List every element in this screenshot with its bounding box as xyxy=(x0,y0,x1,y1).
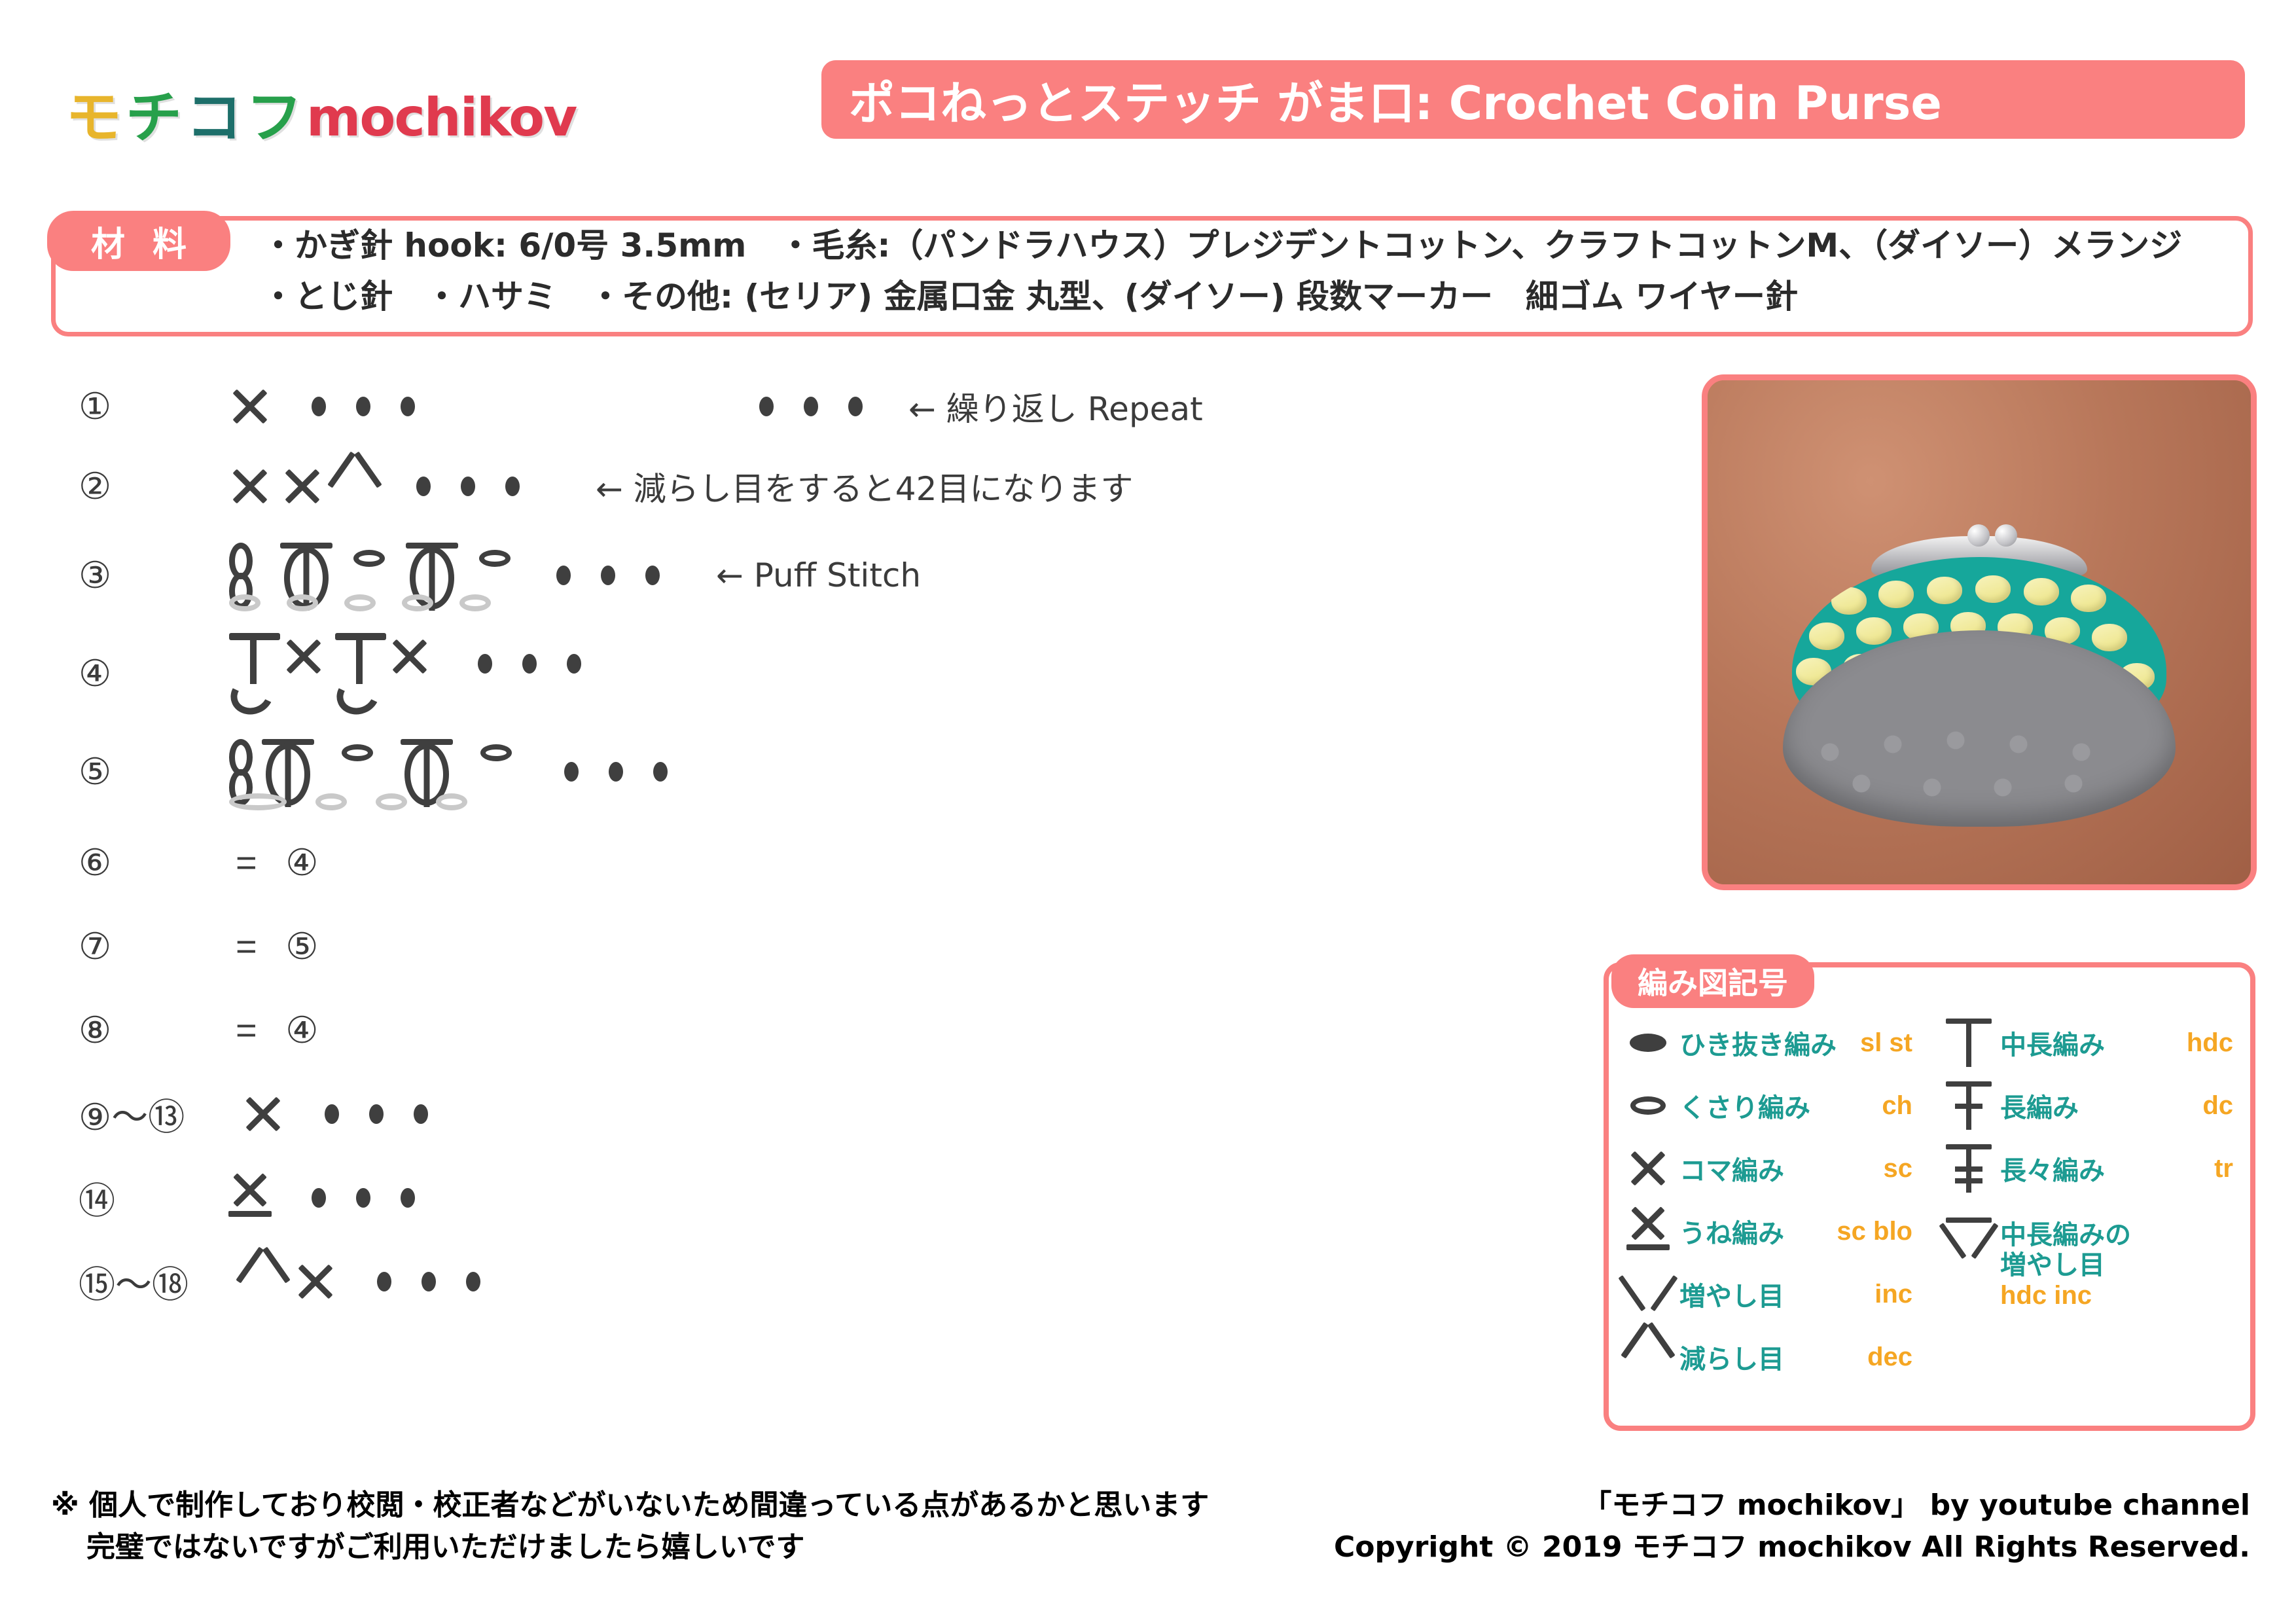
row-note: ← Puff Stitch xyxy=(716,556,921,594)
row-number: ③ xyxy=(79,554,229,597)
row-number: ⑥ xyxy=(79,842,229,884)
legend-item: くさり編み ch xyxy=(1617,1084,1924,1127)
clasp-knob-right xyxy=(1995,524,2017,547)
legend-item: 増やし目 inc xyxy=(1617,1272,1924,1316)
pattern-row: ⑮～⑱ xyxy=(79,1240,1505,1324)
row-symbols xyxy=(229,367,445,446)
row-number: ⑮～⑱ xyxy=(79,1255,242,1308)
legend-label-en: dc xyxy=(2202,1091,2245,1121)
pattern-row: ⑭ xyxy=(79,1156,1505,1240)
row-symbols xyxy=(229,723,698,821)
repeat-dot-icon xyxy=(556,566,571,585)
legend-item: うね編み sc blo xyxy=(1617,1210,1924,1253)
repeat-dot-icon xyxy=(377,1272,391,1291)
repeat-dot-icon xyxy=(416,477,431,496)
credit-line-2: Copyright © 2019 モチコフ mochikov All Right… xyxy=(1334,1526,2250,1568)
materials-tab-label: 材 料 xyxy=(83,217,194,266)
repeat-dot-icon xyxy=(601,566,615,585)
row-symbols xyxy=(229,1158,445,1238)
legend-item: 減らし目 dec xyxy=(1617,1335,1924,1379)
legend-label-jp-line1: 中長編みの xyxy=(2000,1220,2131,1250)
row-symbols xyxy=(242,1074,458,1154)
materials-line-1: ・かぎ針 hook: 6/0号 3.5mm ・毛糸:（パンドラハウス）プレジデン… xyxy=(262,220,2225,271)
repeat-dot-icon xyxy=(369,1104,384,1124)
repeat-dot-icon xyxy=(759,397,774,416)
legend-label-jp: うね編み xyxy=(1679,1212,1784,1250)
single-crochet-icon xyxy=(242,1093,284,1135)
pattern-row: ③ xyxy=(79,526,1505,624)
single-crochet-icon xyxy=(295,1261,336,1303)
legend-label-jp: 長々編み xyxy=(2000,1149,2105,1187)
repeat-dot-icon xyxy=(478,654,492,674)
pattern-sheet: モ チ コ フ mochikov ポコねっとステッチ がま口: Crochet … xyxy=(0,0,2296,1624)
logo-char-mo: モ xyxy=(65,90,122,146)
page-title: ポコねっとステッチ がま口: Crochet Coin Purse xyxy=(821,67,1942,133)
row-note: ← 繰り返し Repeat xyxy=(908,383,1203,430)
clasp-knob-left xyxy=(1967,524,1990,547)
row-symbols xyxy=(229,446,550,526)
footer-disclaimer: ※ 個人で制作しており校閲・校正者などがいないため間違っている点があるかと思いま… xyxy=(51,1485,1360,1568)
disclaimer-line-1: ※ 個人で制作しており校閲・校正者などがいないため間違っている点があるかと思いま… xyxy=(51,1485,1360,1526)
legend-label-jp: ひき抜き編み xyxy=(1679,1024,1837,1062)
repeat-dot-icon xyxy=(325,1104,339,1124)
repeat-dot-icon xyxy=(356,1188,370,1208)
row-equals: = ④ xyxy=(229,841,327,884)
legend-item: コマ編み sc xyxy=(1617,1147,1924,1190)
repeat-dot-icon xyxy=(466,1272,480,1291)
legend-item: 中長編みの 増やし目 hdc inc xyxy=(1937,1220,2245,1310)
slip-stitch-icon xyxy=(1617,1034,1679,1052)
repeat-dot-icon xyxy=(645,566,660,585)
chain-icon xyxy=(1617,1096,1679,1115)
legend-tab: 編み図記号 xyxy=(1611,954,1814,1008)
row-equals: = ④ xyxy=(229,1009,327,1052)
legend-label-en: hdc xyxy=(2187,1028,2245,1058)
logo-latin: mochikov xyxy=(306,92,576,144)
repeat-dot-icon xyxy=(401,1188,415,1208)
repeat-dot-icon xyxy=(564,762,579,782)
materials-content: ・かぎ針 hook: 6/0号 3.5mm ・毛糸:（パンドラハウス）プレジデン… xyxy=(262,220,2225,322)
hdc-hook-icon xyxy=(229,630,283,717)
single-crochet-icon xyxy=(229,465,271,507)
pattern-row: ⑧ = ④ xyxy=(79,988,1505,1072)
decrease-icon xyxy=(242,1261,284,1303)
legend-label-en: hdc inc xyxy=(2000,1280,2131,1310)
row-number: ⑤ xyxy=(79,751,229,793)
sc-blo-icon xyxy=(1617,1204,1679,1259)
legend-label-en: dec xyxy=(1867,1343,1924,1372)
pattern-row: ⑥ = ④ xyxy=(79,821,1505,905)
dc-icon xyxy=(1937,1081,2000,1130)
row-number: ② xyxy=(79,465,229,508)
row-number: ⑨～⑬ xyxy=(79,1088,242,1141)
credit-line-1: 「モチコフ mochikov」 by youtube channel xyxy=(1334,1485,2250,1526)
legend-label-en: sl st xyxy=(1860,1028,1924,1058)
logo-char-ko: コ xyxy=(186,90,242,146)
legend-label-jp: くさり編み xyxy=(1679,1087,1810,1125)
repeat-dot-icon xyxy=(522,654,537,674)
foundation-chain-row xyxy=(229,594,491,611)
pattern-row: ⑨～⑬ xyxy=(79,1072,1505,1156)
row-note: ← 減らし目をすると42目になります xyxy=(596,463,1133,510)
chain-icon xyxy=(342,744,373,761)
row-number: ④ xyxy=(79,653,229,695)
legend-label-jp: 増やし目 xyxy=(1679,1275,1784,1313)
legend-tab-label: 編み図記号 xyxy=(1638,960,1788,1003)
chain-icon xyxy=(480,744,512,761)
legend-label-jp: 減らし目 xyxy=(1679,1338,1784,1376)
legend-label-group: 中長編みの 増やし目 hdc inc xyxy=(2000,1220,2131,1310)
chain-icon xyxy=(479,550,511,567)
pattern-row: ⑦ = ⑤ xyxy=(79,905,1505,988)
hdc-icon xyxy=(1937,1019,2000,1067)
repeat-dot-icon xyxy=(401,397,415,416)
pattern-rows: ① ← 繰り返し Repeat ② xyxy=(79,367,1505,1324)
repeat-dot-icon xyxy=(848,397,863,416)
legend-label-jp: コマ編み xyxy=(1679,1149,1784,1187)
repeat-dot-icon xyxy=(609,762,623,782)
row-symbols xyxy=(242,1242,511,1322)
repeat-dot-icon xyxy=(414,1104,428,1124)
legend-item: 長々編み tr xyxy=(1937,1147,2245,1190)
repeat-dot-icon xyxy=(567,654,581,674)
legend-item: 長編み dc xyxy=(1937,1084,2245,1127)
decrease-icon xyxy=(1617,1336,1679,1378)
row-equals: = ⑤ xyxy=(229,925,327,968)
single-crochet-icon xyxy=(283,636,325,677)
repeat-dot-icon xyxy=(505,477,520,496)
legend-item: 中長編み hdc xyxy=(1937,1021,2245,1064)
row-number: ① xyxy=(79,386,229,428)
materials-tab: 材 料 xyxy=(47,211,230,271)
title-banner: ポコねっとステッチ がま口: Crochet Coin Purse xyxy=(821,60,2245,139)
crochet-coin-purse-photo xyxy=(1702,374,2257,890)
legend-column-right: 中長編み hdc 長編み dc 長々編み tr xyxy=(1924,1021,2245,1414)
repeat-dot-icon xyxy=(312,397,326,416)
sc-blo-icon xyxy=(229,1170,271,1225)
increase-icon xyxy=(1617,1272,1679,1316)
chain-icon xyxy=(353,550,385,567)
repeat-dot-icon xyxy=(653,762,668,782)
decrease-icon xyxy=(334,465,376,507)
row-number: ⑧ xyxy=(79,1009,229,1052)
materials-line-2: ・とじ針 ・ハサミ ・その他: (セリア) 金属口金 丸型、(ダイソー) 段数マ… xyxy=(262,271,2225,322)
single-crochet-icon xyxy=(281,465,323,507)
single-crochet-icon xyxy=(1617,1147,1679,1189)
repeat-dot-icon xyxy=(356,397,370,416)
legend-label-en: inc xyxy=(1874,1280,1924,1309)
repeat-dot-icon xyxy=(461,477,475,496)
legend-label-jp: 中長編み xyxy=(2000,1024,2105,1062)
row-symbols xyxy=(229,526,690,624)
foundation-chain-row xyxy=(229,793,467,810)
pattern-row: ① ← 繰り返し Repeat xyxy=(79,367,1505,446)
legend-label-en: sc blo xyxy=(1837,1217,1924,1246)
pattern-row: ② ← 減らし目をすると42目になります xyxy=(79,446,1505,526)
pattern-row: ⑤ xyxy=(79,723,1505,821)
pattern-row: ④ xyxy=(79,624,1505,723)
legend-label-en: sc xyxy=(1884,1154,1925,1183)
tr-icon xyxy=(1937,1144,2000,1193)
single-crochet-icon xyxy=(389,636,431,677)
row-number: ⑭ xyxy=(79,1172,229,1225)
repeat-dot-icon xyxy=(804,397,818,416)
logo-char-fu: フ xyxy=(246,90,302,146)
logo-char-chi: チ xyxy=(126,90,182,146)
single-crochet-icon xyxy=(229,386,271,427)
repeat-dot-icon xyxy=(312,1188,326,1208)
footer-credit: 「モチコフ mochikov」 by youtube channel Copyr… xyxy=(1334,1485,2250,1568)
legend-item: ひき抜き編み sl st xyxy=(1617,1021,1924,1064)
disclaimer-line-2: 完璧ではないですがご利用いただけましたら嬉しいです xyxy=(51,1526,1360,1568)
hdc-hook-icon xyxy=(335,630,389,717)
legend-column-left: ひき抜き編み sl st くさり編み ch コマ編み sc うね編み sc bl… xyxy=(1617,1021,1924,1414)
repeat-dot-icon xyxy=(422,1272,436,1291)
hdc-inc-icon xyxy=(1937,1220,2000,1263)
legend-content: ひき抜き編み sl st くさり編み ch コマ編み sc うね編み sc bl… xyxy=(1617,1021,2245,1414)
purse-illustration xyxy=(1783,519,2176,827)
brand-logo: モ チ コ フ mochikov xyxy=(65,79,798,157)
row-number: ⑦ xyxy=(79,926,229,968)
row-symbols xyxy=(229,624,611,723)
legend-label-en: tr xyxy=(2214,1154,2245,1183)
legend-label-jp: 長編み xyxy=(2000,1087,2079,1125)
legend-label-jp-line2: 増やし目 xyxy=(2000,1250,2131,1280)
legend-label-en: ch xyxy=(1882,1091,1924,1121)
